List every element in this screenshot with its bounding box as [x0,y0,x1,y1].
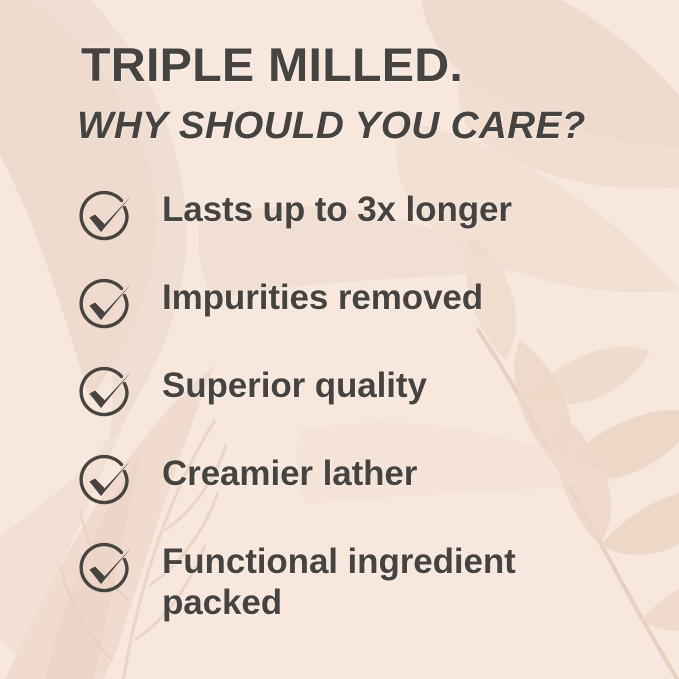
list-item: Impurities removed [0,273,679,361]
benefit-list: Lasts up to 3x longer Impurities removed… [0,185,679,625]
check-circle-icon [74,451,136,513]
list-item: Functional ingredient packed [0,537,679,625]
page-title: TRIPLE MILLED. [81,41,463,88]
benefit-label: Lasts up to 3x longer [162,189,512,230]
check-circle-icon [74,275,136,337]
benefit-label: Impurities removed [162,277,483,318]
list-item: Lasts up to 3x longer [0,185,679,273]
benefit-label: Superior quality [162,365,427,406]
list-item: Creamier lather [0,449,679,537]
product-benefits-poster: TRIPLE MILLED. WHY SHOULD YOU CARE? Last… [0,0,679,679]
benefit-label: Functional ingredient packed [162,541,582,624]
check-circle-icon [74,539,136,601]
benefit-label: Creamier lather [162,453,417,494]
list-item: Superior quality [0,361,679,449]
check-circle-icon [74,363,136,425]
poster-content: TRIPLE MILLED. WHY SHOULD YOU CARE? Last… [0,0,679,679]
check-circle-icon [74,187,136,249]
page-subtitle: WHY SHOULD YOU CARE? [77,107,586,145]
